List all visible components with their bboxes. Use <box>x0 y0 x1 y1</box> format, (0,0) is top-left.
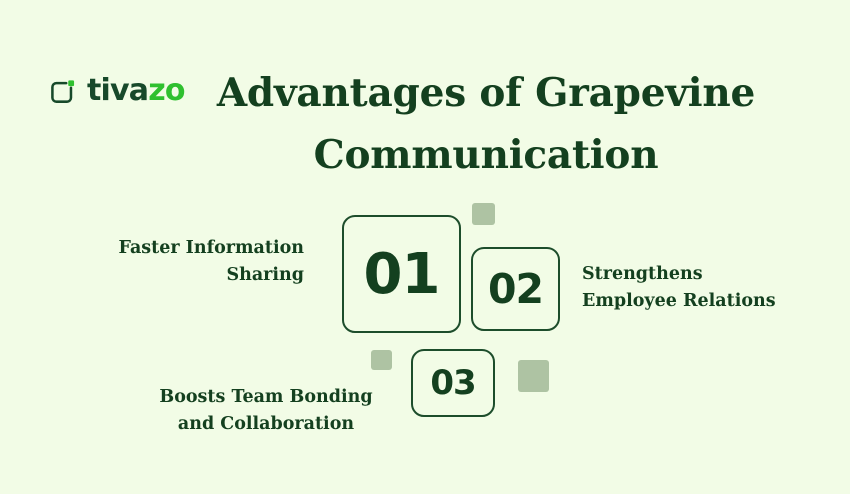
brand-name-primary: tiva <box>87 73 148 108</box>
brand-logo: tivazo <box>48 70 185 112</box>
number-box-02: 02 <box>471 247 560 331</box>
number-box-03: 03 <box>411 349 495 417</box>
page-title-line-1: Advantages of Grapevine <box>186 62 786 124</box>
number-box-01: 01 <box>342 215 461 333</box>
brand-wordmark: tivazo <box>87 76 185 106</box>
item-label-02-line-1: Strengthens <box>582 261 832 288</box>
item-label-02-line-2: Employee Relations <box>582 288 832 315</box>
page-title: Advantages of Grapevine Communication <box>186 62 786 187</box>
item-label-03: Boosts Team Bonding and Collaboration <box>140 384 392 438</box>
infographic-canvas: tivazo Advantages of Grapevine Communica… <box>0 0 850 494</box>
item-label-01-line-2: Sharing <box>80 262 304 289</box>
item-label-01-line-1: Faster Information <box>80 235 304 262</box>
tivazo-bracket-logo-icon <box>48 76 78 106</box>
item-label-01: Faster Information Sharing <box>80 235 304 289</box>
item-label-03-line-1: Boosts Team Bonding <box>140 384 392 411</box>
brand-name-accent: zo <box>148 73 184 108</box>
decor-square-left-icon <box>371 350 392 370</box>
item-label-03-line-2: and Collaboration <box>140 411 392 438</box>
decor-square-top-icon <box>472 203 495 225</box>
page-title-line-2: Communication <box>186 124 786 186</box>
item-label-02: Strengthens Employee Relations <box>582 261 832 315</box>
decor-square-right-icon <box>518 360 549 392</box>
